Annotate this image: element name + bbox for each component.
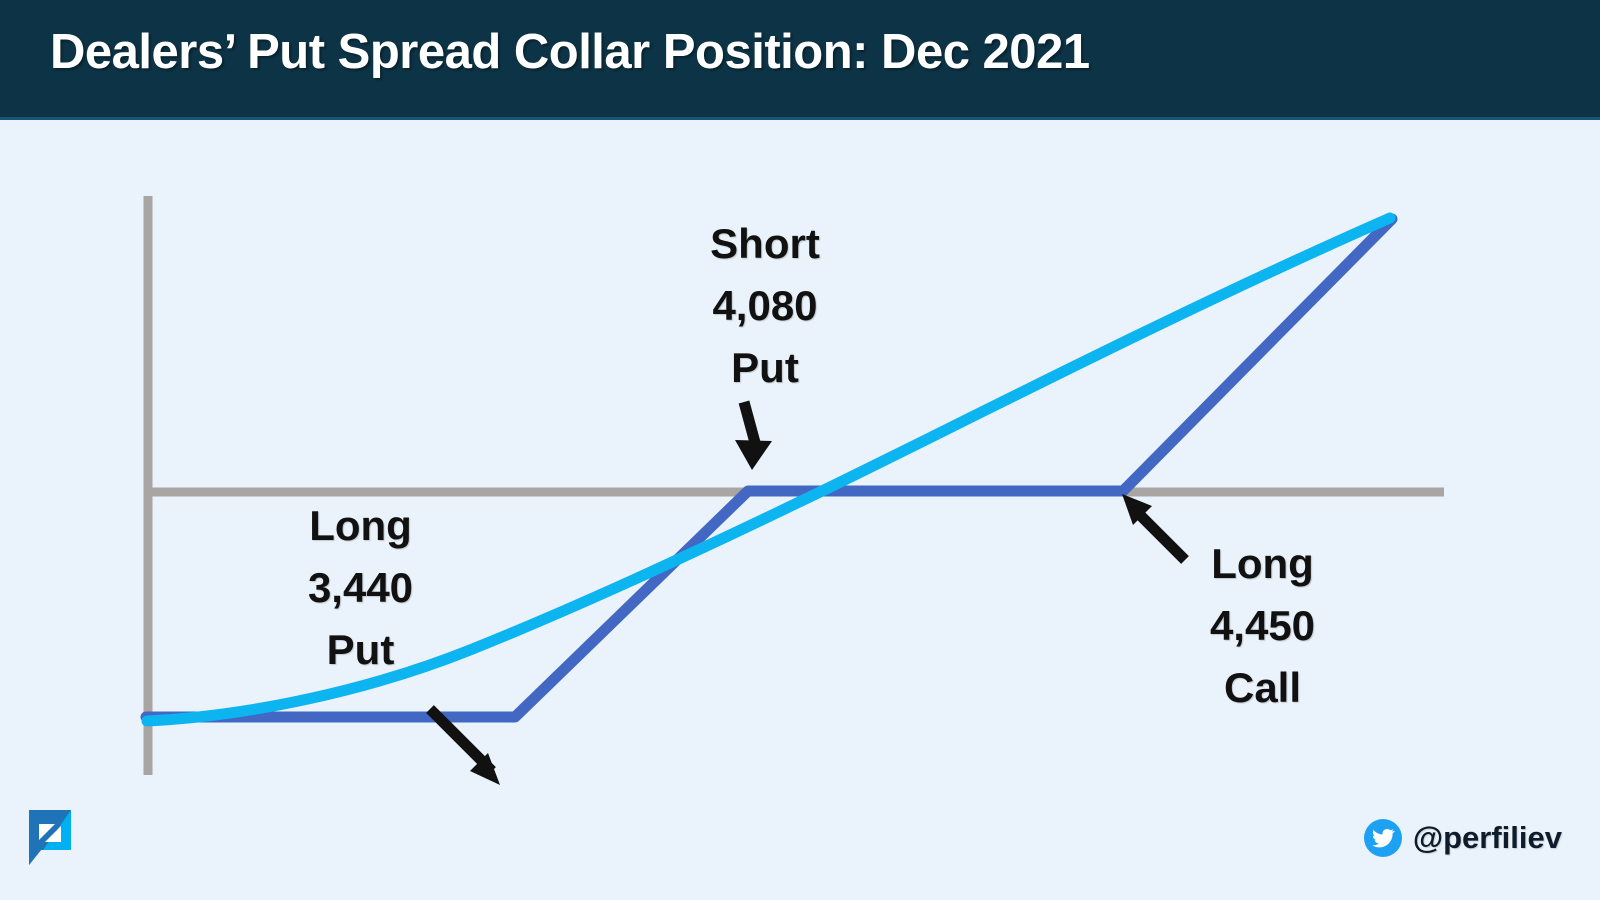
perfiliev-logo-icon [27,808,73,866]
header-bar: Dealers’ Put Spread Collar Position: Dec… [0,0,1600,120]
annotation-long-4450-call: Long 4,450 Call [1160,533,1365,719]
twitter-credit[interactable]: @perfiliev [1364,818,1562,858]
page-title: Dealers’ Put Spread Collar Position: Dec… [50,24,1090,80]
annotation-long-3440-put: Long 3,440 Put [258,495,463,681]
annotation-short-4080-put: Short 4,080 Put [655,213,875,399]
arrow-short-put [735,402,772,470]
twitter-handle-label: @perfiliev [1413,820,1562,856]
twitter-bird-icon[interactable] [1364,819,1402,857]
chart-canvas: Dealers’ Put Spread Collar Position: Dec… [0,0,1600,900]
